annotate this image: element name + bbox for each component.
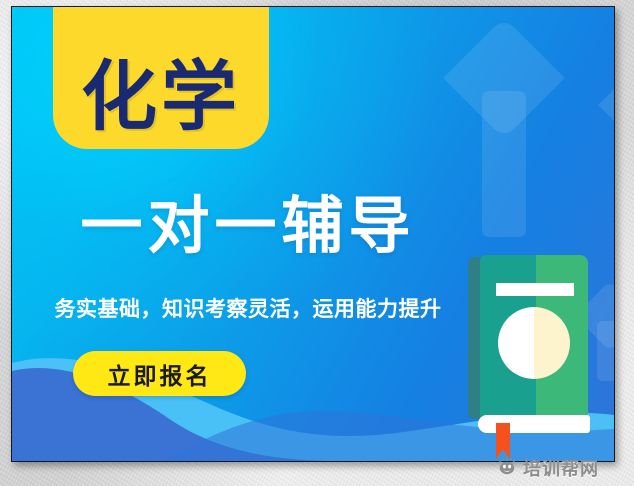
book-pages (478, 415, 590, 433)
watermark: 培训帮网 (497, 455, 599, 481)
page-backdrop: 化学 一对一辅导 务实基础，知识考察灵活，运用能力提升 立即报名 (0, 0, 634, 486)
subject-badge-label: 化学 (81, 59, 241, 135)
arrow-head (598, 51, 615, 158)
page-title: 一对一辅导 (28, 193, 468, 258)
watermark-text: 培训帮网 (523, 455, 599, 481)
smiley-face-logo-icon (497, 456, 517, 481)
enroll-now-button[interactable]: 立即报名 (73, 351, 246, 396)
book-title-bar (496, 283, 574, 296)
book-icon (468, 251, 596, 441)
subject-badge: 化学 (53, 6, 269, 149)
course-promo-banner: 化学 一对一辅导 务实基础，知识考察灵活，运用能力提升 立即报名 (11, 6, 615, 462)
up-arrow-icon-edge (604, 51, 615, 247)
arrow-shaft (482, 91, 526, 237)
banner-subtitle: 务实基础，知识考察灵活，运用能力提升 (22, 293, 474, 323)
